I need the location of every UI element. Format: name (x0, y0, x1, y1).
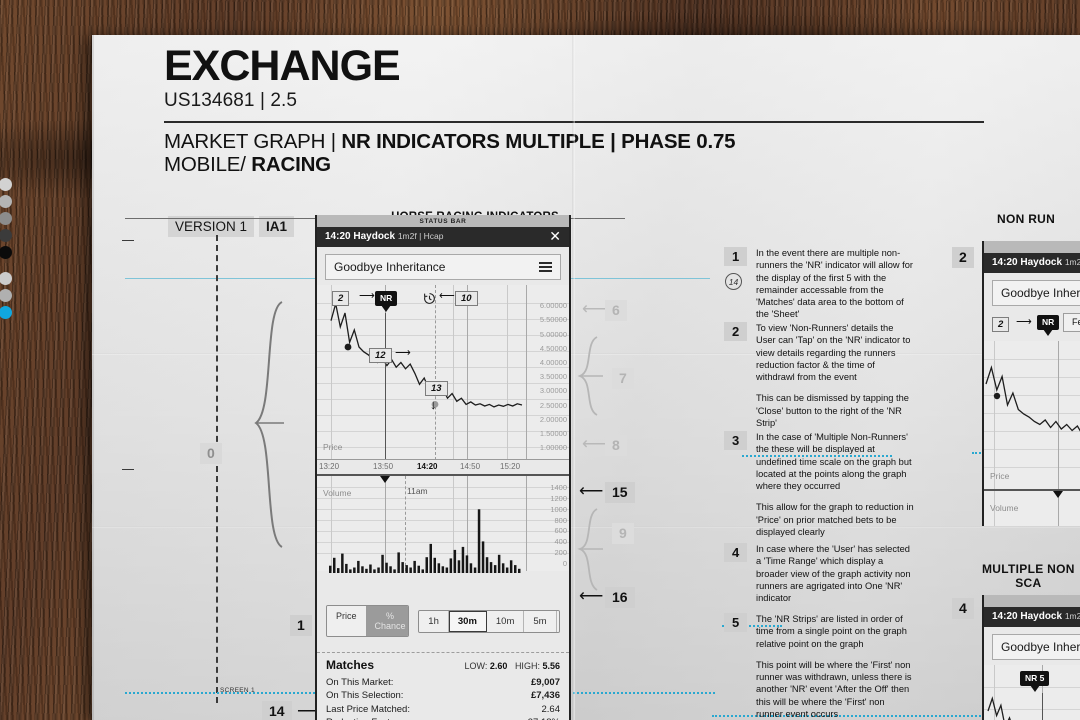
note-4-text: In case where the 'User' has selected a … (756, 543, 914, 604)
volume-tick: 200 (554, 548, 567, 557)
note-1: 1 In the event there are multiple non-ru… (724, 247, 914, 330)
volume-tick: 600 (554, 526, 567, 535)
high-value: 5.56 (542, 661, 560, 671)
rail-dot-4[interactable] (0, 246, 12, 259)
price-line-right-bottom (984, 665, 1080, 720)
volume-playhead-marker-rt (1053, 491, 1063, 498)
brace-7 (577, 335, 605, 417)
note-1-text: In the event there are multiple non-runn… (756, 247, 914, 321)
version-label: VERSION 1 (168, 216, 254, 237)
market-time-rb: 14:20 (992, 611, 1018, 622)
rail-dot-5[interactable] (0, 272, 12, 285)
matches-row-label: Reduction Factor: (326, 716, 401, 720)
volume-tick: 400 (554, 537, 567, 546)
history-clock-icon[interactable] (423, 292, 436, 305)
price-tick: 5.00000 (540, 330, 567, 339)
page-title: EXCHANGE (164, 45, 984, 89)
callout-12: 12 (369, 348, 392, 363)
callout-10-arrow-icon: ⟵ (439, 291, 455, 302)
market-course: Haydock (353, 231, 395, 242)
matches-separator (317, 652, 569, 653)
market-meta: 1m2f | Hcap (398, 231, 444, 241)
volume-tick: 1400 (550, 483, 567, 492)
callout-15-arrow-icon: ⟵ (579, 482, 603, 499)
design-sheet: EXCHANGE US134681 | 2.5 MARKET GRAPH | N… (92, 35, 1080, 720)
callout-10: 10 (455, 291, 478, 306)
price-tick: 5.50000 (540, 315, 567, 324)
right-title-multiple-line1: MULTIPLE NON (982, 562, 1075, 576)
low-value: 2.60 (490, 661, 508, 671)
price-tick: 2.00000 (540, 415, 567, 424)
matches-row: On This Selection:£7,436 (326, 689, 560, 702)
breadcrumb-part-b: NR INDICATORS MULTIPLE | PHASE 0.75 (341, 130, 735, 153)
volume-time-marker: 11am (407, 486, 428, 496)
matches-header: Matches LOW: 2.60 HIGH: 5.56 (326, 658, 560, 672)
note-2-number: 2 (724, 322, 747, 341)
breadcrumb-part-a: MARKET GRAPH | (164, 130, 341, 153)
matches-rows: On This Market:£9,007On This Selection:£… (326, 676, 560, 720)
matches-row: Last Price Matched:2.64 (326, 703, 560, 716)
chart-controls: Price% Chance 1h30m10m5m1m (317, 605, 569, 637)
nav-dot-rail (0, 178, 12, 323)
callout-6-arrow-icon: ⟵ (582, 300, 606, 317)
market-course-rt: Haydock (1020, 257, 1062, 268)
market-title: 14:20 Haydock 1m2f | Hcap (325, 231, 444, 242)
selection-name-rb: Goodbye Inherita (1001, 640, 1080, 654)
market-time: 14:20 (325, 231, 351, 242)
matches-row: Reduction Factor:37.18% (326, 716, 560, 720)
market-nav-bar: 14:20 Haydock 1m2f | Hcap ✕ (317, 227, 569, 247)
market-meta-rt: 1m2 (1065, 257, 1080, 267)
note-5-text-2: This point will be where the 'First' non… (756, 659, 914, 720)
status-bar-right-bottom: STATUS BAR (984, 595, 1080, 607)
right-title-multiple: MULTIPLE NON SCA (982, 562, 1075, 590)
matches-row-value: £7,436 (531, 689, 560, 702)
matches-row-value: 2.64 (542, 703, 561, 716)
right-title-non-runner: NON RUN (997, 212, 1055, 226)
price-chart-right-top: Price (984, 341, 1080, 489)
right-title-multiple-line2: SCA (982, 576, 1075, 590)
breadcrumb-line-2: MOBILE/ RACING (164, 153, 984, 176)
mode-toggle-price[interactable]: Price (327, 606, 366, 636)
mode-toggle-group[interactable]: Price% Chance (326, 605, 409, 637)
selection-name: Goodbye Inheritance (334, 260, 445, 274)
callout-8-arrow-icon: ⟵ (582, 435, 606, 452)
time-tick: 15:20 (500, 462, 520, 471)
rail-dot-7[interactable] (0, 306, 12, 319)
matches-row-value: £9,007 (531, 676, 560, 689)
rail-dot-0[interactable] (0, 178, 12, 191)
breadcrumb-part-d: RACING (251, 153, 331, 176)
phone-mockup-main: STATUS BAR 14:20 Haydock 1m2f | Hcap ✕ G… (315, 215, 571, 720)
note-2-text-1: To view 'Non-Runners' details the User c… (756, 322, 914, 383)
time-tick: 13:20 (319, 462, 339, 471)
callout-16: 16 (605, 587, 635, 608)
selection-bar[interactable]: Goodbye Inheritance (325, 254, 561, 280)
status-bar-right-top: STATUS BAR (984, 241, 1080, 253)
nr-indicator-badge[interactable]: NR (375, 291, 397, 306)
callout-14: 14 (262, 701, 292, 720)
callout-13: 13 (425, 381, 448, 396)
rail-dot-6[interactable] (0, 289, 12, 302)
note-5-text-1: The 'NR Strips' are listed in order of t… (756, 613, 914, 650)
nr-indicator-stem (385, 313, 386, 460)
selection-bar-right-bottom[interactable]: Goodbye Inherita (992, 634, 1080, 660)
note-3-text-1: In the case of 'Multiple Non-Runners' th… (756, 431, 914, 492)
callout-6: 6 (605, 300, 627, 321)
volume-axis-label: Volume (323, 488, 351, 498)
market-meta-rb: 1m2 (1065, 611, 1080, 621)
range-button-30m[interactable]: 30m (449, 611, 487, 632)
status-bar: STATUS BAR (317, 215, 569, 227)
callout-12-arrow-icon: ⟶ (395, 348, 411, 359)
matches-title: Matches (326, 658, 374, 672)
matches-low-high: LOW: 2.60 HIGH: 5.56 (465, 661, 560, 671)
market-course-rb: Haydock (1020, 611, 1062, 622)
callout-2-rt-arrow-icon: ⟶ (1016, 317, 1032, 328)
callout-2-right: 2 (952, 247, 974, 268)
close-icon[interactable]: ✕ (549, 231, 561, 242)
note-5-number: 5 (724, 613, 747, 632)
note-2: 2 To view 'Non-Runners' details the User… (724, 322, 914, 438)
phone-mockup-right-top: STATUS BAR 14:20 Haydock 1m2 Goodbye Inh… (982, 241, 1080, 526)
callout-13-arrow-icon: ↓ (430, 398, 437, 411)
callout-9: 9 (612, 523, 634, 544)
brace-9 (577, 507, 605, 592)
volume-tick: 0 (563, 559, 567, 568)
phone-mockup-right-bottom: STATUS BAR 14:20 Haydock 1m2 Goodbye Inh… (982, 595, 1080, 720)
note-3-number: 3 (724, 431, 747, 450)
volume-tick: 1000 (550, 505, 567, 514)
callout-7: 7 (612, 368, 634, 389)
mode-toggle-chance[interactable]: % Chance (366, 606, 410, 636)
note-2-text-2: This can be dismissed by tapping the 'Cl… (756, 392, 914, 429)
callout-14-circle: 14 (725, 273, 742, 290)
price-axis-label: Price (323, 442, 342, 452)
rail-dot-1[interactable] (0, 195, 12, 208)
callout-0: 0 (200, 443, 222, 464)
price-tick: 4.00000 (540, 358, 567, 367)
volume-axis-label-rt: Volume (990, 503, 1018, 513)
time-axis: 13:2013:5014:2014:5015:20 (317, 460, 569, 474)
callout-8: 8 (605, 435, 627, 456)
price-axis-label-rt: Price (990, 471, 1009, 481)
time-range-group[interactable]: 1h30m10m5m1m (418, 610, 560, 633)
header-divider (164, 121, 984, 123)
note-4: 4 In case where the 'User' has selected … (724, 543, 914, 613)
range-button-10m[interactable]: 10m (487, 611, 524, 632)
callout-2-rt: 2 (992, 317, 1009, 332)
price-tick: 4.50000 (540, 344, 567, 353)
note-3: 3 In the case of 'Multiple Non-Runners' … (724, 431, 914, 547)
screen-label: SCREEN 1 (220, 687, 255, 694)
price-chart: Price 6.000005.500005.000004.500004.0000… (317, 285, 569, 460)
selection-name-rt: Goodbye Inherita (1001, 286, 1080, 300)
guide-dashed-vertical (216, 235, 218, 703)
version-code: IA1 (259, 216, 294, 237)
price-tick: 1.50000 (540, 429, 567, 438)
low-label: LOW: (465, 661, 488, 671)
volume-tick: 800 (554, 516, 567, 525)
sheet-header: EXCHANGE US134681 | 2.5 MARKET GRAPH | N… (164, 45, 984, 177)
market-time-rt: 14:20 (992, 257, 1018, 268)
nr-runner-name: Ferdy (1063, 313, 1080, 332)
guide-tick-2 (122, 469, 134, 470)
note-3-text-2: This allow for the graph to reduction in… (756, 501, 914, 538)
volume-chart: Volume 11am 1400120010008006004002000 (317, 474, 569, 571)
matches-row-label: Last Price Matched: (326, 703, 410, 716)
matches-row-label: On This Selection: (326, 689, 403, 702)
matches-panel: Matches LOW: 2.60 HIGH: 5.56 On This Mar… (317, 658, 569, 720)
callout-2-arrow-icon: ⟶ (359, 291, 375, 302)
price-chart-right-bottom: NR 5 (984, 665, 1080, 720)
price-line-right-top (984, 341, 1080, 489)
price-tick: 6.00000 (540, 301, 567, 310)
breadcrumb-part-c: MOBILE/ (164, 153, 251, 176)
matches-row-label: On This Market: (326, 676, 393, 689)
range-button-1m[interactable]: 1m (557, 611, 560, 632)
time-tick: 14:20 (417, 462, 437, 471)
market-nav-bar-right-bottom: 14:20 Haydock 1m2 (984, 607, 1080, 627)
nr-indicator-badge-rt[interactable]: NR (1037, 315, 1059, 330)
matches-row: On This Market:£9,007 (326, 676, 560, 689)
doc-reference: US134681 | 2.5 (164, 90, 984, 112)
matches-row-value: 37.18% (528, 716, 560, 720)
nr-strip-row: 2 ⟶ NR Ferdy Prior b (984, 311, 1080, 341)
callout-1-left: 1 (290, 615, 312, 636)
guide-tick-1 (122, 240, 134, 241)
price-tick: 3.50000 (540, 372, 567, 381)
range-button-1h[interactable]: 1h (419, 611, 449, 632)
price-line-series (317, 285, 526, 460)
brace-zero (252, 300, 292, 550)
volume-tick: 1200 (550, 494, 567, 503)
time-tick: 14:50 (460, 462, 480, 471)
high-label: HIGH: (515, 661, 540, 671)
hamburger-icon[interactable] (539, 262, 552, 272)
note-5: 5 The 'NR Strips' are listed in order of… (724, 613, 914, 720)
callout-15: 15 (605, 482, 635, 503)
rail-dot-2[interactable] (0, 212, 12, 225)
volume-playhead-marker (380, 476, 390, 483)
price-tick: 1.00000 (540, 443, 567, 452)
callout-2-chart: 2 (332, 291, 349, 306)
range-button-5m[interactable]: 5m (524, 611, 556, 632)
time-tick: 13:50 (373, 462, 393, 471)
callout-16-arrow-icon: ⟵ (579, 587, 603, 604)
breadcrumb-line-1: MARKET GRAPH | NR INDICATORS MULTIPLE | … (164, 130, 984, 153)
market-nav-bar-right-top: 14:20 Haydock 1m2 (984, 253, 1080, 273)
price-tick: 3.00000 (540, 386, 567, 395)
callout-4-right: 4 (952, 598, 974, 619)
note-4-number: 4 (724, 543, 747, 562)
version-bar: VERSION 1 IA1 (168, 216, 294, 237)
price-tick: 2.50000 (540, 401, 567, 410)
selection-bar-right-top[interactable]: Goodbye Inherita (992, 280, 1080, 306)
volume-chart-right-top: Volume 11a (984, 489, 1080, 526)
note-1-number: 1 (724, 247, 747, 266)
rail-dot-3[interactable] (0, 229, 12, 242)
